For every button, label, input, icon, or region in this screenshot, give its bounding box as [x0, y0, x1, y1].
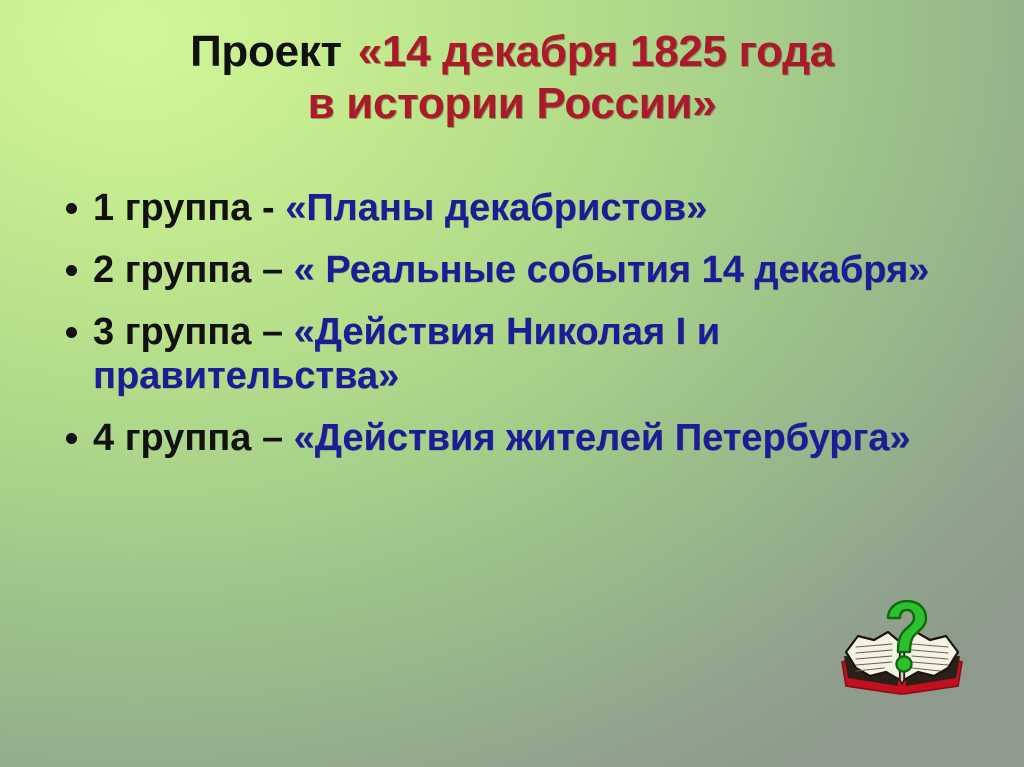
group-topic: « Реальные события 14 декабря» — [294, 249, 930, 291]
group-label: 2 группа — [93, 249, 251, 291]
bullet-dot-icon — [66, 433, 77, 444]
group-separator: – — [251, 417, 293, 459]
group-list: 1 группа - «Планы декабристов» 2 группа … — [60, 186, 960, 460]
bullet-dot-icon — [66, 203, 77, 214]
list-item: 4 группа – «Действия жителей Петербурга» — [60, 416, 960, 460]
group-topic: «Планы декабристов» — [285, 187, 707, 229]
group-separator: – — [251, 311, 293, 353]
title-line-1: Проект«14 декабря 1825 года — [60, 28, 964, 76]
slide-canvas: Проект«14 декабря 1825 года в истории Ро… — [0, 0, 1024, 767]
bullet-dot-icon — [66, 327, 77, 338]
list-item: 2 группа – « Реальные события 14 декабря… — [60, 248, 960, 292]
list-item: 3 группа – «Действия Николая I и правите… — [60, 310, 960, 398]
bullet-dot-icon — [66, 265, 77, 276]
group-label: 1 группа — [93, 187, 251, 229]
list-item: 1 группа - «Планы декабристов» — [60, 186, 960, 230]
group-separator: – — [251, 249, 293, 291]
group-label: 3 группа — [93, 311, 251, 353]
group-topic: «Действия жителей Петербурга» — [294, 417, 911, 459]
title-quoted-line-2: в истории России» — [308, 79, 717, 128]
title-quoted-line-1: «14 декабря 1825 года — [358, 27, 834, 76]
title-line-2: в истории России» — [60, 80, 964, 128]
slide-title: Проект«14 декабря 1825 года в истории Ро… — [60, 28, 964, 127]
open-book-question-mark-icon — [832, 600, 972, 700]
group-separator: - — [251, 187, 285, 229]
group-label: 4 группа — [93, 417, 251, 459]
title-prefix: Проект — [190, 27, 342, 76]
